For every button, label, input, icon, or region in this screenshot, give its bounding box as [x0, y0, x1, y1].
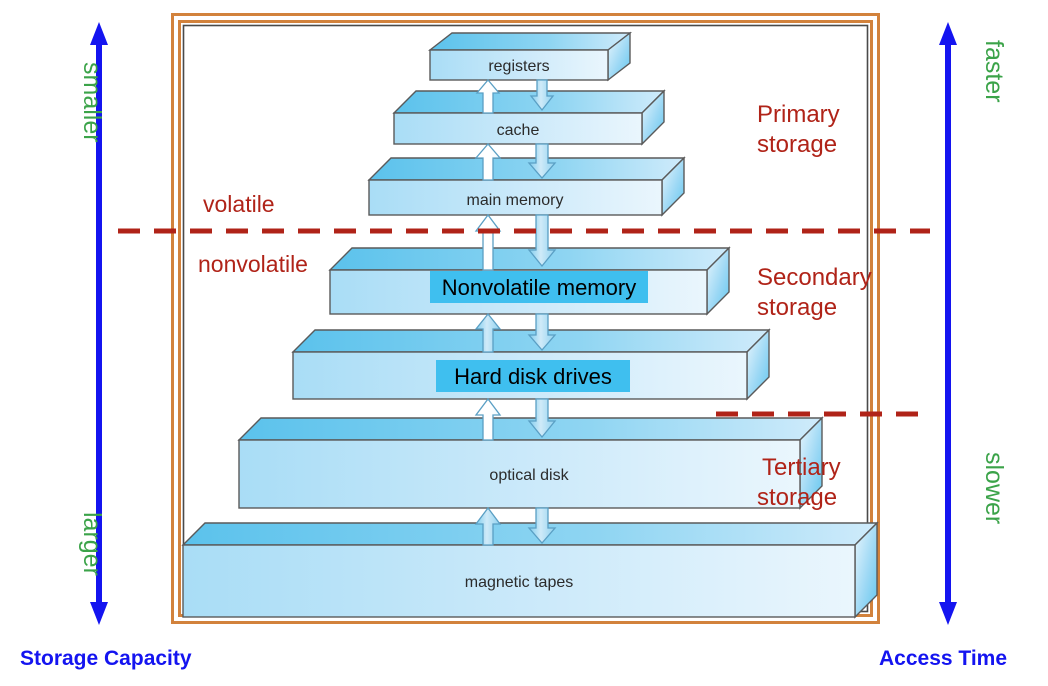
- zone-label-primary: Primary storage: [757, 101, 840, 158]
- zone-tertiary-line1: Tertiary: [762, 454, 841, 481]
- right-axis-arrow: [939, 22, 957, 625]
- diagram-canvas: magnetic tapes optical disk Hard disk dr…: [0, 0, 1048, 686]
- right-axis-bottom-word: slower: [980, 452, 1008, 524]
- right-axis-top-word: faster: [980, 40, 1008, 103]
- level-label-optical: optical disk: [489, 467, 569, 484]
- level-box-tape[interactable]: magnetic tapes: [183, 523, 877, 617]
- zone-secondary-line1: Secondary: [757, 264, 872, 291]
- level-label-registers: registers: [488, 58, 549, 75]
- level-box-main-memory[interactable]: main memory: [369, 158, 684, 215]
- left-axis-caption: Storage Capacity: [20, 647, 192, 670]
- zone-tertiary-line2: storage: [757, 484, 837, 511]
- level-box-hdd[interactable]: Hard disk drives: [293, 330, 769, 399]
- level-label-cache: cache: [497, 122, 540, 139]
- storage-hierarchy-diagram: magnetic tapes optical disk Hard disk dr…: [0, 0, 1048, 686]
- zone-primary-line2: storage: [757, 131, 837, 158]
- level-box-cache[interactable]: cache: [394, 91, 664, 144]
- zone-secondary-line2: storage: [757, 294, 837, 321]
- zone-primary-line1: Primary: [757, 101, 840, 128]
- right-axis-caption: Access Time: [879, 647, 1007, 670]
- level-label-tape: magnetic tapes: [465, 574, 574, 591]
- label-volatile: volatile: [203, 191, 275, 217]
- left-axis-bottom-word: larger: [78, 512, 106, 576]
- level-label-nvm: Nonvolatile memory: [442, 275, 636, 300]
- level-label-main-memory: main memory: [467, 192, 564, 209]
- left-axis-top-word: smaller: [78, 62, 106, 143]
- level-box-registers[interactable]: registers: [430, 33, 630, 80]
- level-box-nvm[interactable]: Nonvolatile memory: [330, 248, 729, 314]
- level-box-optical[interactable]: optical disk: [239, 418, 822, 508]
- label-nonvolatile: nonvolatile: [198, 251, 308, 277]
- zone-label-secondary: Secondary storage: [757, 264, 872, 321]
- level-label-hdd: Hard disk drives: [454, 364, 612, 389]
